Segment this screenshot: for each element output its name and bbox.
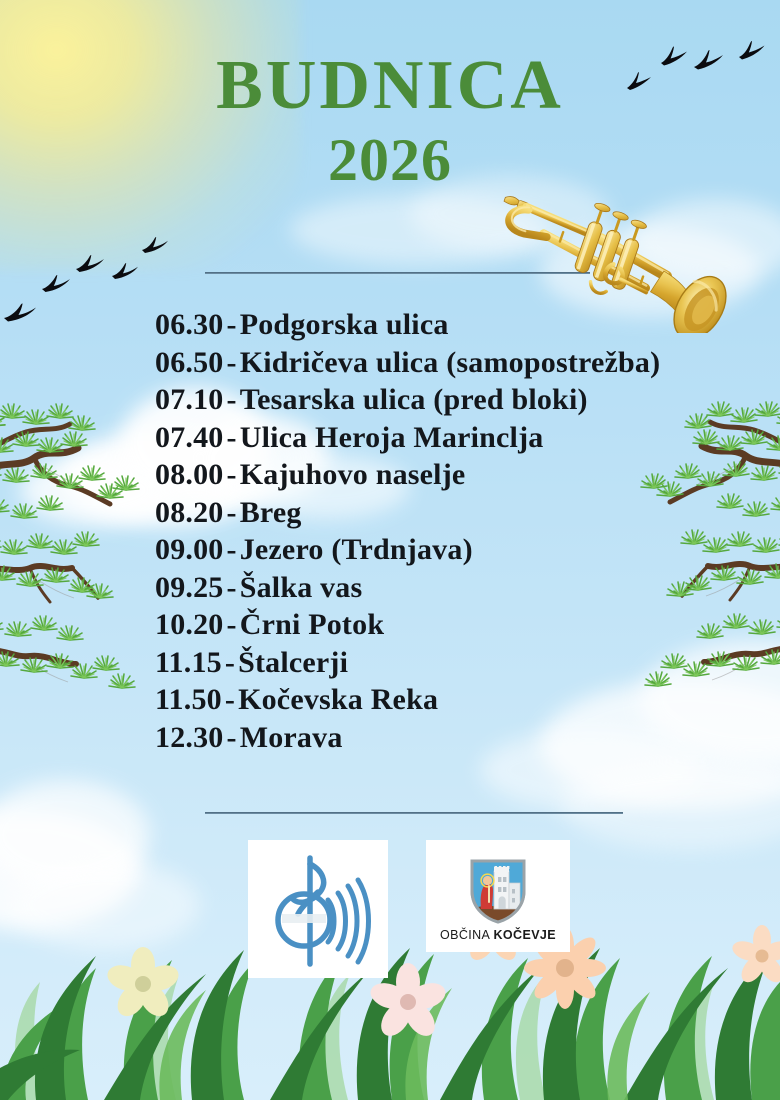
municipality-prefix: OBČINA: [440, 928, 494, 942]
divider-bottom: [205, 812, 623, 814]
municipality-city: KOČEVJE: [493, 928, 556, 942]
schedule-dash: -: [224, 533, 240, 566]
list-item: 09.25-Šalka vas: [155, 569, 775, 607]
page-title: BUDNICA: [0, 52, 780, 121]
municipality-name: OBČINA KOČEVJE: [440, 928, 556, 942]
schedule-dash: -: [224, 308, 240, 341]
schedule-dash: -: [224, 571, 240, 604]
poster-title-block: BUDNICA 2026: [0, 52, 780, 192]
schedule-place: Jezero (Trdnjava): [240, 533, 473, 566]
schedule-time: 06.30: [155, 308, 224, 341]
schedule-dash: -: [224, 421, 240, 454]
list-item: 11.50-Kočevska Reka: [155, 681, 775, 719]
pine-branch-left-icon: [0, 402, 176, 702]
music-society-logo: [248, 840, 388, 978]
schedule-time: 11.15: [155, 646, 222, 679]
logo-row: OBČINA KOČEVJE: [248, 840, 570, 978]
list-item: 08.00-Kajuhovo naselje: [155, 456, 775, 494]
bird-icon: [2, 298, 38, 326]
schedule-place: Črni Potok: [240, 608, 385, 641]
schedule-time: 12.30: [155, 721, 224, 754]
schedule-place: Breg: [240, 496, 302, 529]
schedule-time: 06.50: [155, 346, 224, 379]
bird-icon: [74, 250, 106, 276]
list-item: 12.30-Morava: [155, 719, 775, 757]
schedule-dash: -: [224, 496, 240, 529]
schedule-time: 09.00: [155, 533, 224, 566]
list-item: 09.00-Jezero (Trdnjava): [155, 531, 775, 569]
municipality-logo: OBČINA KOČEVJE: [426, 840, 570, 952]
kocevje-coat-of-arms-icon: [467, 857, 529, 925]
poster-year: 2026: [0, 129, 780, 192]
schedule-dash: -: [224, 721, 240, 754]
list-item: 10.20-Črni Potok: [155, 606, 775, 644]
list-item: 11.15-Štalcerji: [155, 644, 775, 682]
list-item: 08.20-Breg: [155, 494, 775, 532]
schedule-time: 08.00: [155, 458, 224, 491]
schedule-place: Kidričeva ulica (samopostrežba): [240, 346, 661, 379]
schedule-place: Ulica Heroja Marinclja: [240, 421, 544, 454]
schedule-time: 08.20: [155, 496, 224, 529]
bird-icon: [140, 232, 170, 257]
treble-clef-soundwave-icon: [258, 848, 378, 970]
poster-canvas: BUDNICA 2026: [0, 0, 780, 1100]
schedule-time: 09.25: [155, 571, 224, 604]
list-item: 06.50-Kidričeva ulica (samopostrežba): [155, 344, 775, 382]
schedule-dash: -: [224, 608, 240, 641]
schedule-time: 07.40: [155, 421, 224, 454]
schedule-place: Podgorska ulica: [240, 308, 449, 341]
schedule-list: 06.30-Podgorska ulica 06.50-Kidričeva ul…: [155, 306, 775, 756]
schedule-dash: -: [222, 646, 238, 679]
list-item: 06.30-Podgorska ulica: [155, 306, 775, 344]
bird-icon: [110, 258, 140, 283]
schedule-dash: -: [222, 683, 238, 716]
bird-icon: [40, 270, 72, 296]
schedule-time: 07.10: [155, 383, 224, 416]
schedule-place: Štalcerji: [238, 646, 348, 679]
schedule-place: Kajuhovo naselje: [240, 458, 466, 491]
schedule-dash: -: [224, 458, 240, 491]
schedule-place: Tesarska ulica (pred bloki): [240, 383, 588, 416]
schedule-dash: -: [224, 346, 240, 379]
schedule-place: Morava: [240, 721, 343, 754]
list-item: 07.10-Tesarska ulica (pred bloki): [155, 381, 775, 419]
schedule-place: Šalka vas: [240, 571, 363, 604]
schedule-time: 10.20: [155, 608, 224, 641]
schedule-place: Kočevska Reka: [238, 683, 438, 716]
schedule-time: 11.50: [155, 683, 222, 716]
list-item: 07.40-Ulica Heroja Marinclja: [155, 419, 775, 457]
schedule-dash: -: [224, 383, 240, 416]
